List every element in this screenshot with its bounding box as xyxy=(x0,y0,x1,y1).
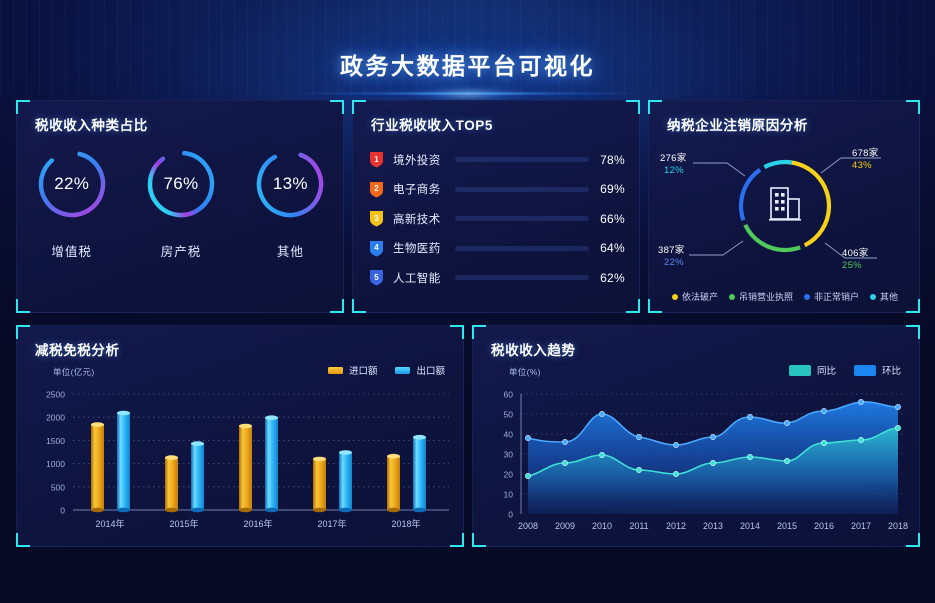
industry-percent: 66% xyxy=(589,212,625,226)
svg-text:2011: 2011 xyxy=(629,521,648,531)
donut-label: 其他 xyxy=(277,241,304,260)
panel-industry-top5: 行业税收收入TOP5 1 境外投资 78% 2 电子商务 69% xyxy=(352,100,640,313)
legend-label: 环比 xyxy=(882,363,901,377)
progress-track xyxy=(455,275,589,280)
rank-badge-icon: 3 xyxy=(369,210,384,227)
progress-track xyxy=(455,246,589,251)
list-item[interactable]: 4 生物医药 64% xyxy=(369,234,625,264)
rank-number: 4 xyxy=(369,240,384,257)
axis-unit-label: 单位(亿元) xyxy=(53,366,94,378)
svg-text:2009: 2009 xyxy=(555,521,575,531)
donut-chart: 13% xyxy=(253,147,327,221)
industry-name: 电子商务 xyxy=(393,181,455,197)
svg-text:2008: 2008 xyxy=(518,521,538,531)
rank-number: 1 xyxy=(369,151,384,168)
corner-bracket-icon xyxy=(626,100,640,114)
donut-group: 22% 增值税 76% xyxy=(17,147,345,307)
list-item[interactable]: 1 境外投资 78% xyxy=(369,145,625,175)
industry-name: 境外投资 xyxy=(393,152,455,168)
panel-title: 减税免税分析 xyxy=(35,339,120,359)
callout-percent: 25% xyxy=(842,260,870,271)
svg-text:2015年: 2015年 xyxy=(169,518,198,529)
rank-badge-icon: 4 xyxy=(369,240,384,257)
donut-value: 22% xyxy=(35,147,109,221)
legend-item-huanbi[interactable]: 环比 xyxy=(854,363,901,377)
industry-name: 人工智能 xyxy=(393,270,455,286)
industry-percent: 78% xyxy=(589,153,625,167)
legend-label: 其他 xyxy=(880,290,898,303)
industry-name: 高新技术 xyxy=(393,211,455,227)
corner-bracket-icon xyxy=(906,100,920,114)
legend-swatch-icon xyxy=(395,367,410,374)
donut-item-1[interactable]: 76% 房产税 xyxy=(126,147,235,307)
svg-text:2010: 2010 xyxy=(592,521,612,531)
svg-text:500: 500 xyxy=(51,482,65,492)
callout-bankruptcy: 678家 43% xyxy=(852,145,880,171)
dashboard-header: 政务大数据平台可视化 xyxy=(0,0,935,96)
legend-item[interactable]: 依法破产 xyxy=(672,290,718,303)
svg-text:2015: 2015 xyxy=(777,521,797,531)
corner-bracket-icon xyxy=(906,325,920,339)
bar-group-2014: 2014年 xyxy=(91,411,130,529)
ring-chart: 678家 43% 406家 25% 387家 22% 276家 12% xyxy=(649,131,921,281)
top5-list: 1 境外投资 78% 2 电子商务 69% 3 高新技 xyxy=(369,145,625,293)
rank-badge-icon: 2 xyxy=(369,181,384,198)
progress-track xyxy=(455,157,589,162)
donut-value: 13% xyxy=(253,147,327,221)
legend-swatch-icon xyxy=(854,365,876,376)
callout-count: 387家 xyxy=(658,242,720,256)
legend-item[interactable]: 非正常销户 xyxy=(804,290,859,303)
svg-text:60: 60 xyxy=(504,390,514,400)
svg-text:2500: 2500 xyxy=(46,390,65,400)
svg-text:1000: 1000 xyxy=(46,459,65,469)
corner-bracket-icon xyxy=(16,100,30,114)
area-chart: 60 50 40 30 20 10 0 xyxy=(473,382,921,542)
legend-item-export[interactable]: 出口额 xyxy=(395,363,445,377)
legend-item[interactable]: 其他 xyxy=(870,290,898,303)
callout-percent: 12% xyxy=(660,165,722,176)
bar-group-2016: 2016年 xyxy=(239,415,278,529)
legend-dot-icon xyxy=(729,294,735,300)
legend-label: 进口额 xyxy=(349,363,378,377)
donut-chart: 22% xyxy=(35,147,109,221)
legend-item-tongbi[interactable]: 同比 xyxy=(789,363,836,377)
donut-item-0[interactable]: 22% 增值税 xyxy=(17,147,126,307)
legend-item-import[interactable]: 进口额 xyxy=(328,363,378,377)
svg-text:2016: 2016 xyxy=(814,521,834,531)
progress-track xyxy=(455,187,589,192)
legend-label: 吊销营业执照 xyxy=(739,290,793,303)
legend-item[interactable]: 吊销营业执照 xyxy=(729,290,793,303)
bar-group-2017: 2017年 xyxy=(313,450,352,529)
list-item[interactable]: 2 电子商务 69% xyxy=(369,175,625,205)
svg-text:0: 0 xyxy=(60,506,65,516)
svg-text:0: 0 xyxy=(508,510,513,520)
panel-tax-share: 税收收入种类占比 22% 增值税 xyxy=(16,100,344,313)
bar-group-2018: 2018年 xyxy=(387,435,426,529)
industry-percent: 62% xyxy=(589,271,625,285)
corner-bracket-icon xyxy=(648,100,662,114)
corner-bracket-icon xyxy=(16,325,30,339)
donut-item-2[interactable]: 13% 其他 xyxy=(236,147,345,307)
rank-badge-icon: 1 xyxy=(369,151,384,168)
callout-percent: 22% xyxy=(658,257,720,268)
callout-license-revoked: 406家 25% xyxy=(842,245,870,271)
donut-label: 增值税 xyxy=(51,241,92,260)
list-item[interactable]: 3 高新技术 66% xyxy=(369,204,625,234)
svg-text:2014年: 2014年 xyxy=(95,518,124,529)
corner-bracket-icon xyxy=(450,325,464,339)
callout-other: 276家 12% xyxy=(660,150,722,176)
svg-text:1500: 1500 xyxy=(46,436,65,446)
corner-bracket-icon xyxy=(352,100,366,114)
area-legend: 同比 环比 xyxy=(789,363,901,377)
panel-cancellation-reasons: 纳税企业注销原因分析 xyxy=(648,100,920,313)
callout-count: 678家 xyxy=(852,145,880,159)
bar-chart: 2500 2000 1500 1000 500 0 xyxy=(17,382,465,542)
legend-label: 非正常销户 xyxy=(814,290,859,303)
legend-label: 出口额 xyxy=(416,363,445,377)
axis-unit-label: 单位(%) xyxy=(509,366,541,378)
legend-dot-icon xyxy=(672,294,678,300)
corner-bracket-icon xyxy=(352,299,366,313)
ring-legend: 依法破产 吊销营业执照 非正常销户 其他 xyxy=(649,290,921,303)
callout-abnormal: 387家 22% xyxy=(658,242,720,268)
donut-chart: 76% xyxy=(144,147,218,221)
legend-label: 依法破产 xyxy=(682,290,718,303)
legend-dot-icon xyxy=(870,294,876,300)
svg-text:50: 50 xyxy=(504,410,514,420)
rank-number: 5 xyxy=(369,269,384,286)
panel-title: 税收收入种类占比 xyxy=(35,114,148,134)
svg-text:2016年: 2016年 xyxy=(243,518,272,529)
legend-label: 同比 xyxy=(817,363,836,377)
svg-text:30: 30 xyxy=(504,450,514,460)
corner-bracket-icon xyxy=(472,325,486,339)
callout-count: 406家 xyxy=(842,245,870,259)
svg-text:2018: 2018 xyxy=(888,521,908,531)
rank-number: 3 xyxy=(369,210,384,227)
svg-text:2013: 2013 xyxy=(703,521,723,531)
svg-text:2014: 2014 xyxy=(740,521,760,531)
dashboard-root: 政务大数据平台可视化 税收收入种类占比 xyxy=(0,0,935,603)
svg-text:2012: 2012 xyxy=(666,521,686,531)
svg-text:40: 40 xyxy=(504,430,514,440)
x-axis-labels: 2008 2009 2010 2011 2012 2013 2014 2015 … xyxy=(518,521,908,531)
corner-bracket-icon xyxy=(626,299,640,313)
header-beam-decoration xyxy=(233,91,703,96)
donut-label: 房产税 xyxy=(161,241,202,260)
donut-value: 76% xyxy=(144,147,218,221)
svg-text:2000: 2000 xyxy=(46,413,65,423)
panel-tax-trend: 税收收入趋势 单位(%) 同比 环比 xyxy=(472,325,920,547)
legend-swatch-icon xyxy=(789,365,811,376)
page-title: 政务大数据平台可视化 xyxy=(0,47,935,81)
industry-percent: 64% xyxy=(589,241,625,255)
progress-track xyxy=(455,216,589,221)
industry-percent: 69% xyxy=(589,182,625,196)
industry-name: 生物医药 xyxy=(393,240,455,256)
panel-tax-relief: 减税免税分析 单位(亿元) 进口额 出口额 xyxy=(16,325,464,547)
bar-legend: 进口额 出口额 xyxy=(328,363,445,377)
rank-badge-icon: 5 xyxy=(369,269,384,286)
panel-title: 行业税收收入TOP5 xyxy=(371,114,493,134)
svg-text:2018年: 2018年 xyxy=(391,518,420,529)
corner-bracket-icon xyxy=(330,100,344,114)
rank-number: 2 xyxy=(369,181,384,198)
svg-text:20: 20 xyxy=(504,470,514,480)
list-item[interactable]: 5 人工智能 62% xyxy=(369,263,625,293)
legend-dot-icon xyxy=(804,294,810,300)
bar-group-2015: 2015年 xyxy=(165,441,204,529)
svg-text:10: 10 xyxy=(504,490,514,500)
legend-swatch-icon xyxy=(328,367,343,374)
callout-percent: 43% xyxy=(852,160,880,171)
callout-count: 276家 xyxy=(660,150,722,164)
svg-text:2017年: 2017年 xyxy=(317,518,346,529)
svg-text:2017: 2017 xyxy=(851,521,871,531)
panel-title: 税收收入趋势 xyxy=(491,339,576,359)
